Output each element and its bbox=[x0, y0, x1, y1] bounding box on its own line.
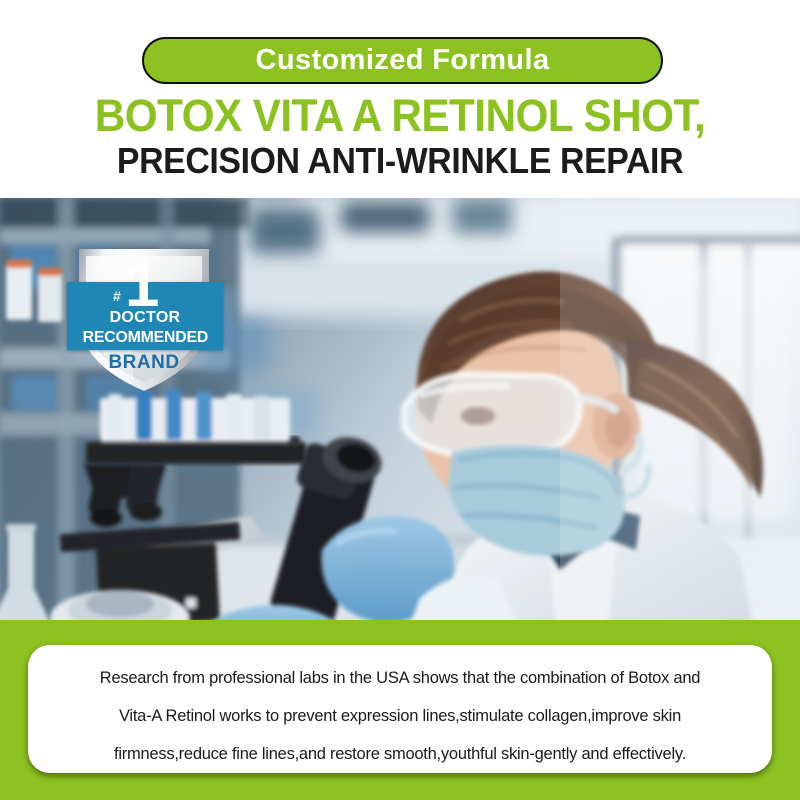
page-title: BOTOX VITA A RETINOL SHOT, bbox=[24, 92, 776, 139]
customized-formula-label: Customized Formula bbox=[256, 46, 550, 75]
badge-line-brand: BRAND bbox=[73, 353, 215, 372]
description-line-1: Research from professional labs in the U… bbox=[50, 659, 750, 697]
description-line-2: Vita-A Retinol works to prevent expressi… bbox=[50, 697, 750, 735]
description-line-3: firmness,reduce fine lines,and restore s… bbox=[50, 735, 750, 773]
description-card: Research from professional labs in the U… bbox=[28, 645, 772, 773]
page-subtitle: PRECISION ANTI-WRINKLE REPAIR bbox=[24, 142, 776, 180]
badge-banner: # 1 DOCTOR RECOMMENDED bbox=[67, 282, 223, 350]
header-section: Customized Formula BOTOX VITA A RETINOL … bbox=[0, 0, 800, 198]
customized-formula-badge: Customized Formula bbox=[142, 37, 663, 84]
badge-number-one: 1 bbox=[125, 255, 159, 317]
badge-hash-symbol: # bbox=[113, 289, 121, 303]
doctor-recommended-badge: # 1 DOCTOR RECOMMENDED BRAND bbox=[73, 243, 215, 395]
badge-line-recommended: RECOMMENDED bbox=[82, 330, 207, 346]
